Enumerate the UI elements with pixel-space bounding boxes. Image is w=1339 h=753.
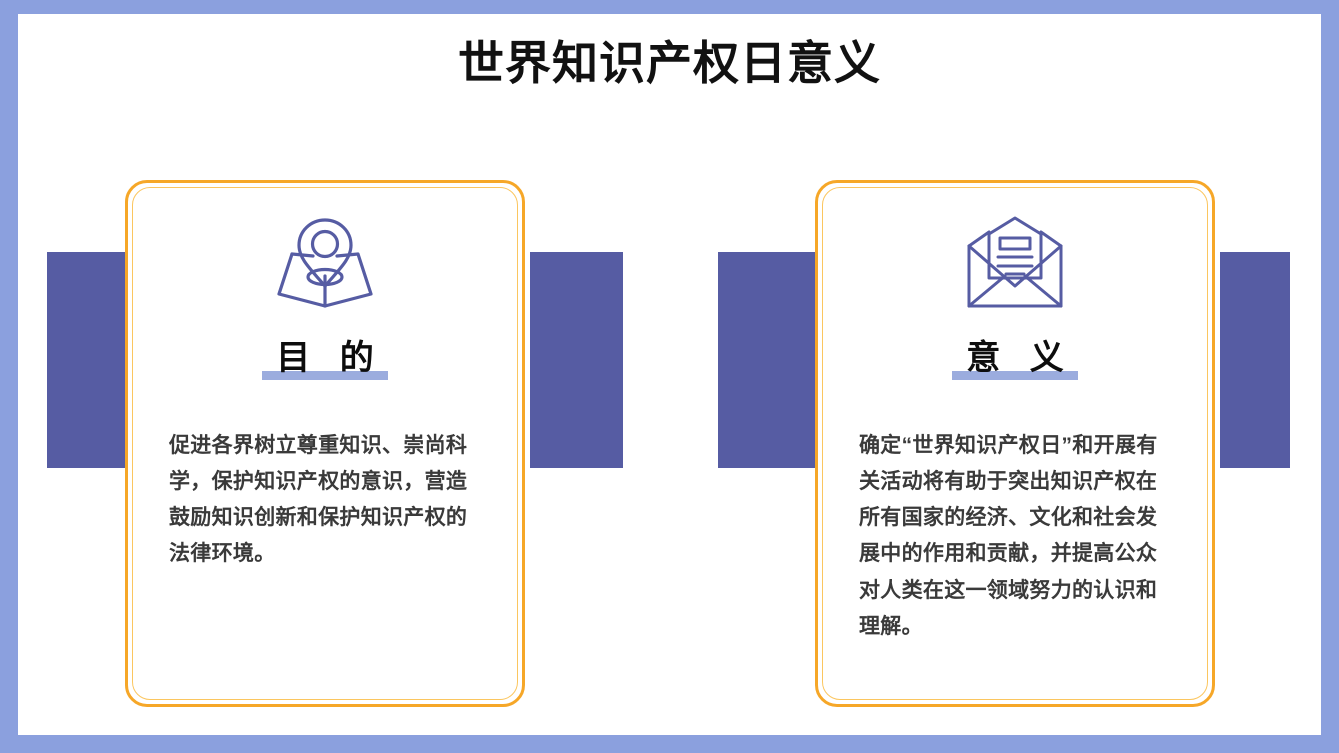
page-title: 世界知识产权日意义 bbox=[18, 36, 1321, 91]
map-location-pin-icon bbox=[142, 213, 508, 315]
card-purpose-text: 促进各界树立尊重知识、崇尚科学，保护知识产权的意识，营造鼓励知识创新和保护知识产… bbox=[169, 428, 481, 572]
accent-block-right-outer bbox=[1220, 252, 1290, 468]
card-significance-heading: 意 义 bbox=[952, 339, 1077, 384]
card-significance-heading-text: 意 义 bbox=[966, 339, 1073, 377]
accent-block-right-inner bbox=[718, 252, 815, 468]
card-purpose-heading: 目 的 bbox=[262, 339, 387, 384]
accent-block-left-inner bbox=[530, 252, 623, 468]
slide-canvas: 世界知识产权日意义 bbox=[0, 0, 1339, 753]
card-purpose-heading-text: 目 的 bbox=[276, 339, 383, 377]
card-significance-body: 意 义 确定“世界知识产权日”和开展有关活动将有助于突出知识产权在所有国家的经济… bbox=[818, 213, 1212, 645]
open-envelope-letter-icon bbox=[832, 213, 1198, 315]
slide-content-area: 世界知识产权日意义 bbox=[18, 14, 1321, 735]
card-purpose[interactable]: 目 的 促进各界树立尊重知识、崇尚科学，保护知识产权的意识，营造鼓励知识创新和保… bbox=[125, 180, 525, 707]
card-purpose-body: 目 的 促进各界树立尊重知识、崇尚科学，保护知识产权的意识，营造鼓励知识创新和保… bbox=[128, 213, 522, 573]
card-significance[interactable]: 意 义 确定“世界知识产权日”和开展有关活动将有助于突出知识产权在所有国家的经济… bbox=[815, 180, 1215, 707]
card-significance-text: 确定“世界知识产权日”和开展有关活动将有助于突出知识产权在所有国家的经济、文化和… bbox=[859, 428, 1171, 645]
